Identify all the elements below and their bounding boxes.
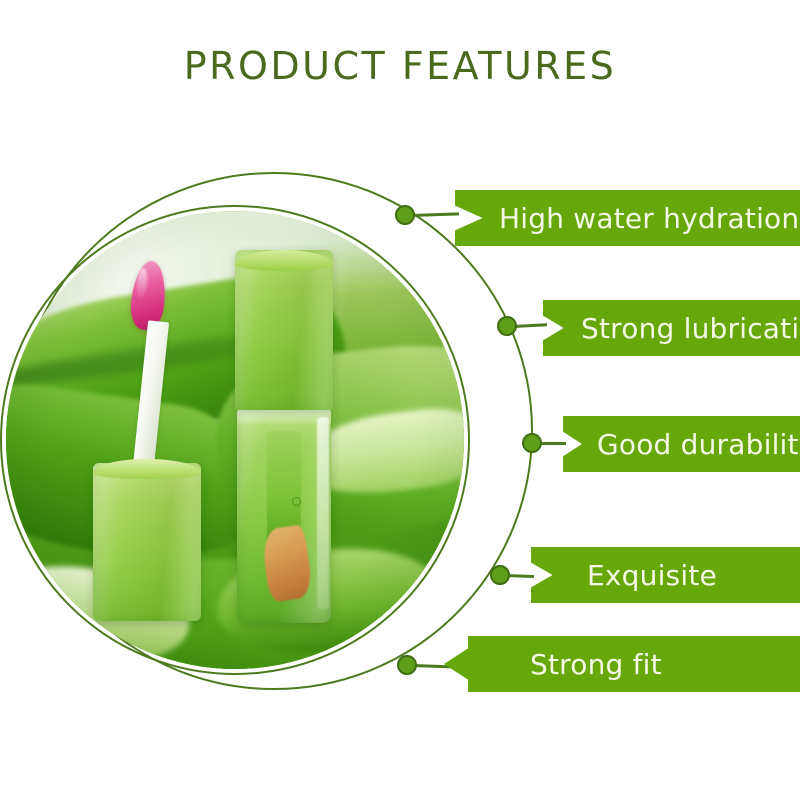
feature-dot-3[interactable] (522, 433, 542, 453)
product-features-infographic: PRODUCT FEATURES (0, 0, 800, 800)
feature-banner-good-durability[interactable]: Good durability (563, 416, 800, 472)
feature-label-exquisite: Exquisite (587, 559, 717, 592)
photo-vignette (6, 211, 464, 669)
feature-label-good-durability: Good durability (597, 428, 800, 461)
connector-stem-3 (538, 442, 566, 445)
feature-banner-strong-fit[interactable]: Strong fit (468, 636, 800, 692)
feature-banner-strong-lubrication[interactable]: Strong lubrication (543, 300, 800, 356)
page-title: PRODUCT FEATURES (0, 44, 800, 88)
feature-banner-exquisite[interactable]: Exquisite (531, 547, 800, 603)
feature-label-strong-fit: Strong fit (530, 648, 662, 681)
feature-dot-1[interactable] (395, 205, 415, 225)
feature-label-high-water-hydration: High water hydration (499, 202, 799, 235)
feature-label-strong-lubrication: Strong lubrication (581, 312, 800, 345)
feature-dot-4[interactable] (490, 565, 510, 585)
feature-banner-high-water-hydration[interactable]: High water hydration (455, 190, 800, 246)
feature-dot-5[interactable] (397, 655, 417, 675)
feature-dot-2[interactable] (497, 316, 517, 336)
product-photo (6, 211, 464, 669)
feature-arrow-strong-fit (444, 647, 470, 681)
